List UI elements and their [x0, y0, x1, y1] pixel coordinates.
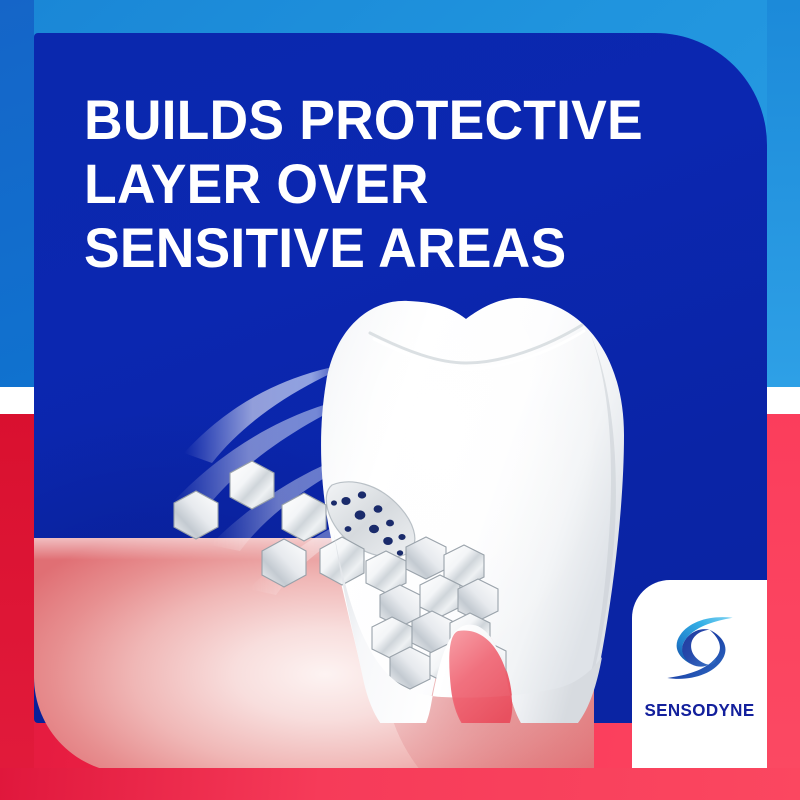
left-edge-blue-strip [0, 0, 34, 387]
page-title: BUILDS PROTECTIVE LAYER OVER SENSITIVE A… [84, 88, 695, 280]
right-edge-cyan-strip [767, 0, 800, 387]
right-edge-pink-strip [767, 414, 800, 800]
brand-logo-panel: SENSODYNE [632, 580, 767, 768]
bottom-edge-red-strip [0, 768, 800, 800]
left-edge-white-strip [0, 387, 34, 414]
brand-wordmark: SENSODYNE [634, 700, 765, 721]
left-edge-red-strip [0, 414, 34, 800]
right-edge-white-strip [767, 387, 800, 414]
sensodyne-s-swoosh-icon [657, 604, 743, 690]
sensodyne-ad-creative: BUILDS PROTECTIVE LAYER OVER SENSITIVE A… [0, 0, 800, 800]
